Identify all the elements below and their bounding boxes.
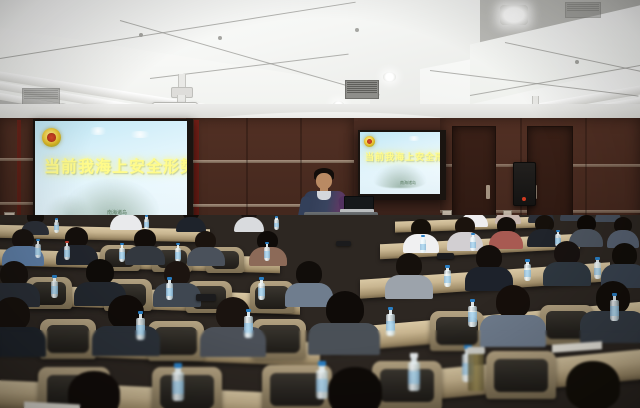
- chair: [486, 351, 556, 399]
- water-bottle[interactable]: [594, 257, 601, 279]
- slide-caption-text: 南海诸岛: [400, 180, 416, 186]
- audience-person: [158, 261, 196, 302]
- slide-emblem-icon: [42, 128, 61, 147]
- audience-person: [610, 217, 636, 245]
- ceiling-light-panel-square: [500, 5, 528, 25]
- water-bottle[interactable]: [610, 293, 619, 321]
- water-bottle[interactable]: [166, 277, 173, 300]
- presenter-collar: [317, 191, 331, 200]
- audience-person: [236, 215, 262, 230]
- water-bottle[interactable]: [444, 265, 451, 287]
- water-bottle[interactable]: [172, 363, 184, 401]
- audience-person: [178, 215, 204, 230]
- audience-person: [0, 297, 38, 353]
- water-bottle[interactable]: [144, 215, 149, 230]
- audience-person: [112, 215, 140, 229]
- audience-person: [390, 253, 428, 295]
- water-bottle[interactable]: [408, 353, 420, 391]
- audience-person: [470, 245, 508, 287]
- audience-person-foreground: [556, 361, 630, 408]
- audience-person: [190, 231, 222, 262]
- audience-person: [488, 285, 538, 343]
- ceiling-wire-node: [355, 28, 359, 32]
- ceiling-wire-node: [218, 36, 222, 40]
- water-bottle[interactable]: [264, 242, 270, 261]
- air-vent: [345, 80, 379, 99]
- water-bottle[interactable]: [54, 218, 59, 233]
- water-bottle[interactable]: [524, 259, 531, 281]
- water-bottle[interactable]: [136, 311, 145, 340]
- water-bottle[interactable]: [51, 275, 58, 298]
- audience-person: [548, 241, 586, 283]
- slide-cloud: [127, 131, 153, 138]
- audience-person: [128, 229, 162, 261]
- water-bottle[interactable]: [244, 309, 253, 338]
- lecture-hall-photo: 当前我海上安全形势 南海诸岛 中国海警 当前我海上安全形势 南海诸岛: [0, 0, 640, 408]
- water-bottle[interactable]: [258, 277, 265, 300]
- presenter-face: [316, 173, 332, 189]
- audience-person: [318, 291, 370, 351]
- water-bottle[interactable]: [35, 239, 41, 258]
- wall-trim: [190, 160, 354, 163]
- audience-person: [572, 215, 600, 244]
- speaker-led-indicator: [522, 197, 526, 201]
- water-bottle[interactable]: [274, 216, 279, 230]
- water-bottle[interactable]: [175, 243, 181, 262]
- slide-title-text: 当前我海上安全形势: [44, 153, 187, 177]
- slide-emblem-icon: [364, 136, 375, 147]
- chair: [40, 319, 96, 359]
- water-bottle[interactable]: [64, 241, 70, 260]
- mobile-phone[interactable]: [336, 241, 351, 246]
- audience-person: [492, 217, 520, 246]
- ceiling-wire-node: [575, 60, 579, 64]
- water-bottle[interactable]: [386, 307, 395, 336]
- water-bottle[interactable]: [316, 361, 328, 399]
- door-handle-icon: [486, 185, 490, 199]
- recessed-downlight: [383, 72, 396, 82]
- travel-tumbler[interactable]: [468, 347, 484, 391]
- slide-title-text: 当前我海上安全形势: [365, 150, 440, 163]
- water-bottle[interactable]: [420, 235, 426, 253]
- wall-speaker: [513, 162, 536, 206]
- ceiling-wire-node: [139, 33, 143, 37]
- audience-person: [530, 215, 558, 244]
- audience-area: [0, 215, 640, 408]
- audience-person-foreground: [58, 371, 130, 408]
- audience-person: [606, 243, 640, 285]
- water-bottle[interactable]: [468, 299, 477, 327]
- chair: [152, 367, 222, 408]
- audience-person-foreground: [318, 367, 392, 408]
- slide-cloud: [406, 136, 422, 141]
- slide-cloud: [87, 127, 109, 135]
- air-vent: [565, 2, 601, 18]
- mobile-phone[interactable]: [437, 253, 454, 259]
